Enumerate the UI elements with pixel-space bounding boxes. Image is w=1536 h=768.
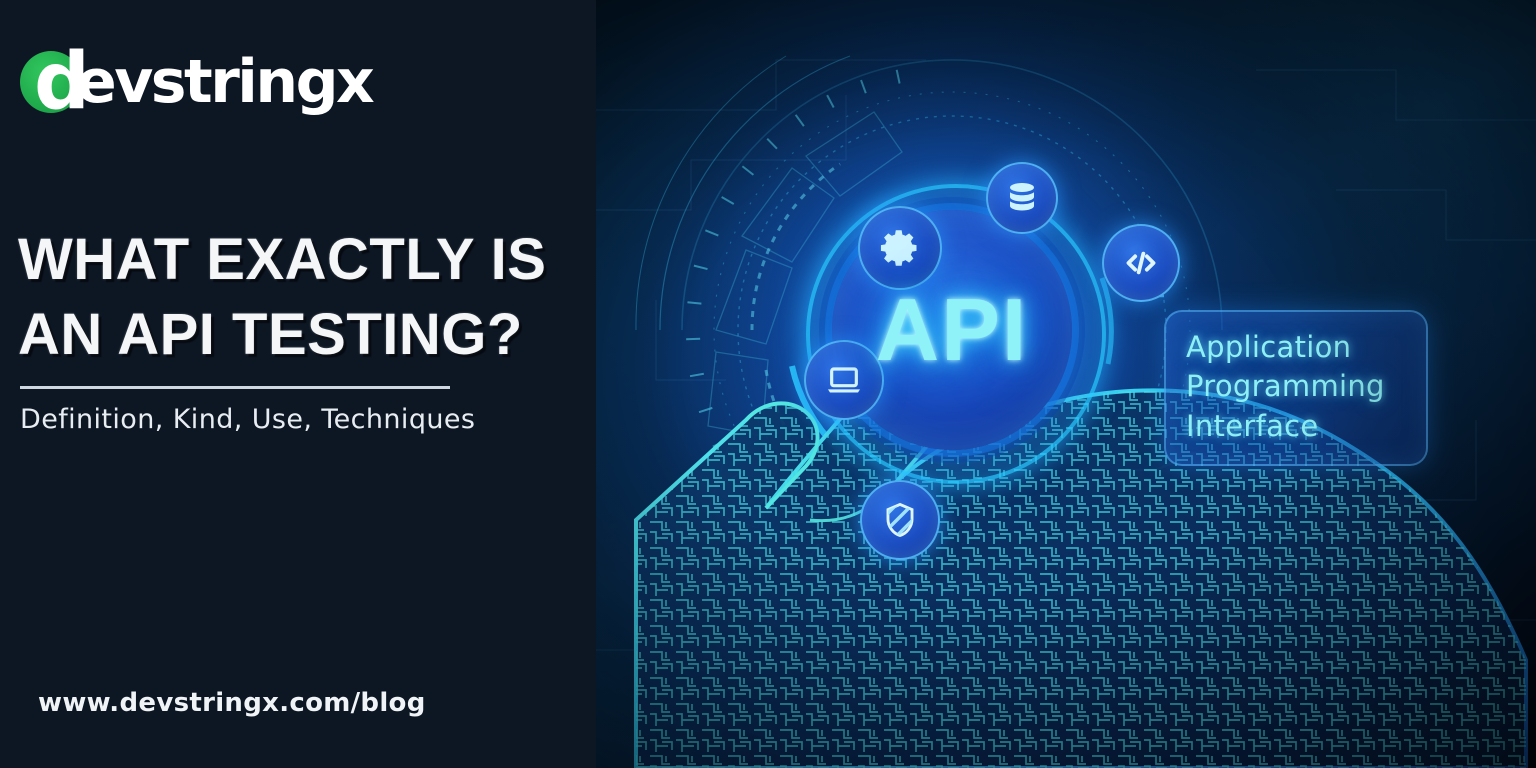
api-label-line-3: Interface — [1186, 407, 1426, 446]
headline-line-2: AN API TESTING? — [18, 297, 578, 372]
api-expansion-panel: Application Programming Interface — [1164, 310, 1428, 466]
shield-icon[interactable] — [860, 480, 940, 560]
laptop-icon-glyph — [824, 360, 864, 400]
headline-line-1: WHAT EXACTLY IS — [18, 222, 578, 297]
shield-icon-glyph — [881, 501, 919, 539]
code-icon-glyph — [1121, 243, 1161, 283]
api-core-label: API — [876, 279, 1029, 381]
blog-banner: d evstringx WHAT EXACTLY IS AN API TESTI… — [0, 0, 1536, 768]
left-text-panel: d evstringx WHAT EXACTLY IS AN API TESTI… — [0, 0, 596, 768]
title-divider — [20, 386, 450, 389]
api-label-line-2: Programming — [1186, 367, 1426, 406]
logo-wordmark: evstringx — [76, 52, 372, 112]
page-title: WHAT EXACTLY IS AN API TESTING? — [18, 222, 578, 373]
devstringx-logo[interactable]: d evstringx — [20, 48, 372, 116]
code-icon[interactable] — [1102, 224, 1180, 302]
laptop-icon[interactable] — [804, 340, 884, 420]
api-label-line-1: Application — [1186, 328, 1426, 367]
database-icon-glyph — [1004, 180, 1040, 216]
gear-icon-glyph — [878, 226, 922, 270]
subtitle: Definition, Kind, Use, Techniques — [20, 404, 475, 435]
logo-mark: d — [20, 49, 86, 115]
api-artwork-panel: API — [596, 0, 1536, 768]
gear-icon[interactable] — [858, 206, 942, 290]
database-icon[interactable] — [986, 162, 1058, 234]
logo-letter-d: d — [34, 43, 88, 121]
site-url[interactable]: www.devstringx.com/blog — [38, 688, 426, 718]
